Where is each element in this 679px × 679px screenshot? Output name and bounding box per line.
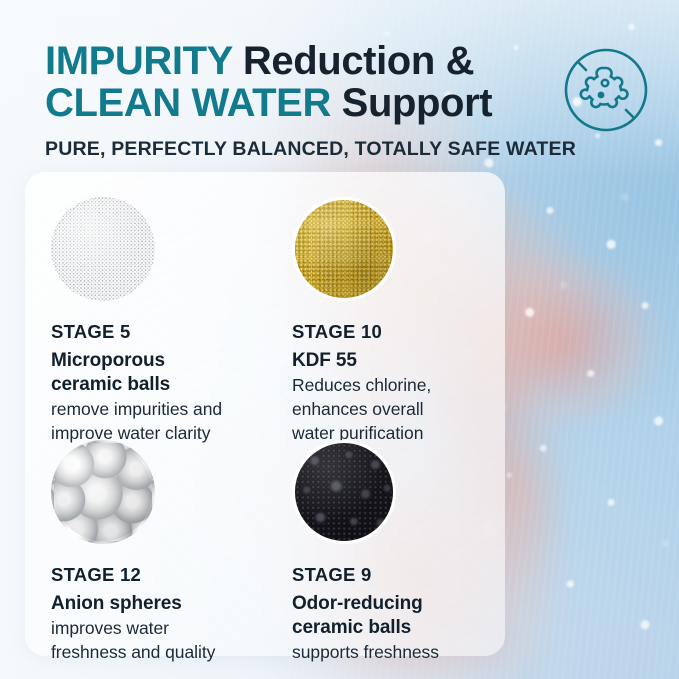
kdf-55-granules-image: [292, 197, 396, 301]
germ-nucleus-small: [602, 80, 608, 86]
stage-title-line-1: Anion spheres: [51, 592, 272, 616]
stage-item-kdf-55: STAGE 10 KDF 55 Reduces chlorine, enhanc…: [272, 172, 505, 415]
germ-nucleus-filled: [598, 92, 605, 99]
headline-rest-support: Support: [331, 81, 492, 125]
stage-label: STAGE 10: [292, 320, 505, 344]
stages-card: STAGE 5 Microporous ceramic balls remove…: [25, 172, 505, 656]
stage-title-line-1: Odor-reducing: [292, 592, 505, 616]
headline-rest-reduction: Reduction &: [232, 39, 474, 83]
header: IMPURITY Reduction & CLEAN WATER Support…: [45, 40, 645, 161]
stage-desc-line-1: supports freshness: [292, 640, 505, 664]
stage-label: STAGE 5: [51, 320, 272, 344]
germ-body: [581, 68, 628, 107]
stage-text-block: STAGE 9 Odor-reducing ceramic balls supp…: [292, 563, 505, 664]
stage-desc-line-1: Reduces chlorine,: [292, 373, 505, 397]
stage-label: STAGE 12: [51, 563, 272, 587]
stage-desc-line-1: improves water: [51, 616, 272, 640]
headline-line-2: CLEAN WATER Support: [45, 82, 645, 124]
badge-slash-top: [578, 62, 586, 70]
stage-title-line-2: ceramic balls: [51, 373, 272, 397]
stage-item-anion-spheres: STAGE 12 Anion spheres improves water fr…: [25, 415, 272, 664]
headline-line-1: IMPURITY Reduction &: [45, 40, 645, 82]
headline-accent-clean-water: CLEAN WATER: [45, 81, 331, 125]
stage-desc-line-2: freshness and quality: [51, 640, 272, 664]
infographic-canvas: IMPURITY Reduction & CLEAN WATER Support…: [0, 0, 679, 679]
no-germ-icon: [556, 40, 656, 140]
subheadline: PURE, PERFECTLY BALANCED, TOTALLY SAFE W…: [45, 138, 645, 161]
microporous-ceramic-balls-image: [51, 197, 155, 301]
headline-accent-impurity: IMPURITY: [45, 39, 232, 83]
stages-grid: STAGE 5 Microporous ceramic balls remove…: [25, 172, 505, 656]
stage-label: STAGE 9: [292, 563, 505, 587]
stage-title-line-2: ceramic balls: [292, 616, 505, 640]
stage-item-odor-reducing-ceramic-balls: STAGE 9 Odor-reducing ceramic balls supp…: [272, 415, 505, 664]
stage-title-line-1: Microporous: [51, 349, 272, 373]
odor-reducing-ceramic-balls-image: [292, 440, 396, 544]
badge-slash-bottom: [626, 110, 634, 118]
stage-item-microporous-ceramic-balls: STAGE 5 Microporous ceramic balls remove…: [25, 172, 272, 415]
stage-text-block: STAGE 12 Anion spheres improves water fr…: [51, 563, 272, 664]
stage-title-line-1: KDF 55: [292, 349, 505, 373]
anion-spheres-image: [51, 440, 155, 544]
